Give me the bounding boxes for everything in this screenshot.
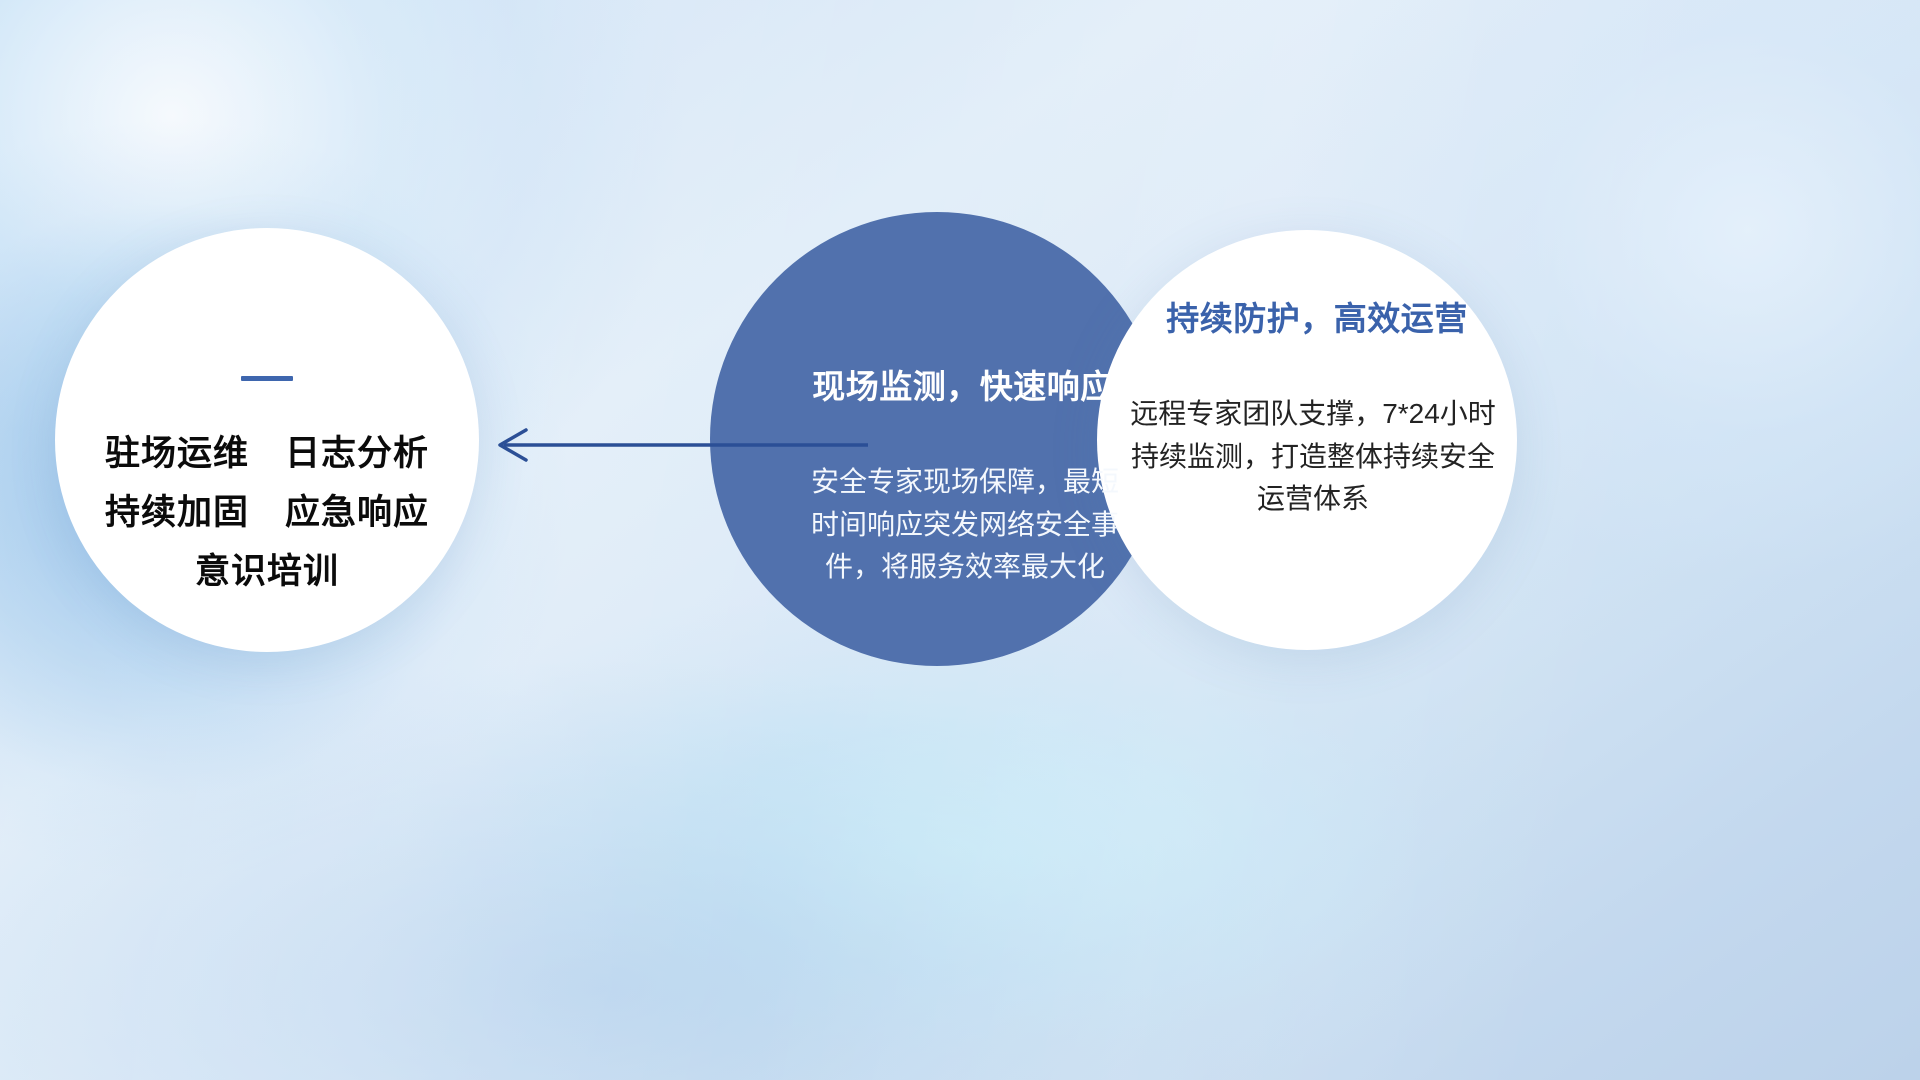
left-circle-content: 驻场运维 日志分析 持续加固 应急响应 意识培训 <box>55 228 479 652</box>
left-keyword-line: 驻场运维 日志分析 <box>105 436 429 471</box>
left-keyword-line: 意识培训 <box>195 554 339 589</box>
right-circle-content: 持续防护，高效运营 远程专家团队支撑，7*24小时持续监测，打造整体持续安全运营… <box>1097 230 1517 650</box>
left-keyword-line: 持续加固 应急响应 <box>105 495 429 530</box>
blue-dash-accent <box>241 376 293 381</box>
left-keyword-list: 驻场运维 日志分析 持续加固 应急响应 意识培训 <box>105 436 429 589</box>
right-circle-body: 远程专家团队支撑，7*24小时持续监测，打造整体持续安全运营体系 <box>1126 393 1500 521</box>
middle-circle-content: 现场监测，快速响应 安全专家现场保障，最短时间响应突发网络安全事件，将服务效率最… <box>710 212 1164 666</box>
middle-circle-body: 安全专家现场保障，最短时间响应突发网络安全事件，将服务效率最大化 <box>806 461 1124 589</box>
middle-circle-title: 现场监测，快速响应 <box>812 370 1114 403</box>
right-circle-title: 持续防护，高效运营 <box>1166 302 1468 335</box>
slide-canvas: 驻场运维 日志分析 持续加固 应急响应 意识培训 现场监测，快速响应 安全专家现… <box>0 0 1920 1080</box>
